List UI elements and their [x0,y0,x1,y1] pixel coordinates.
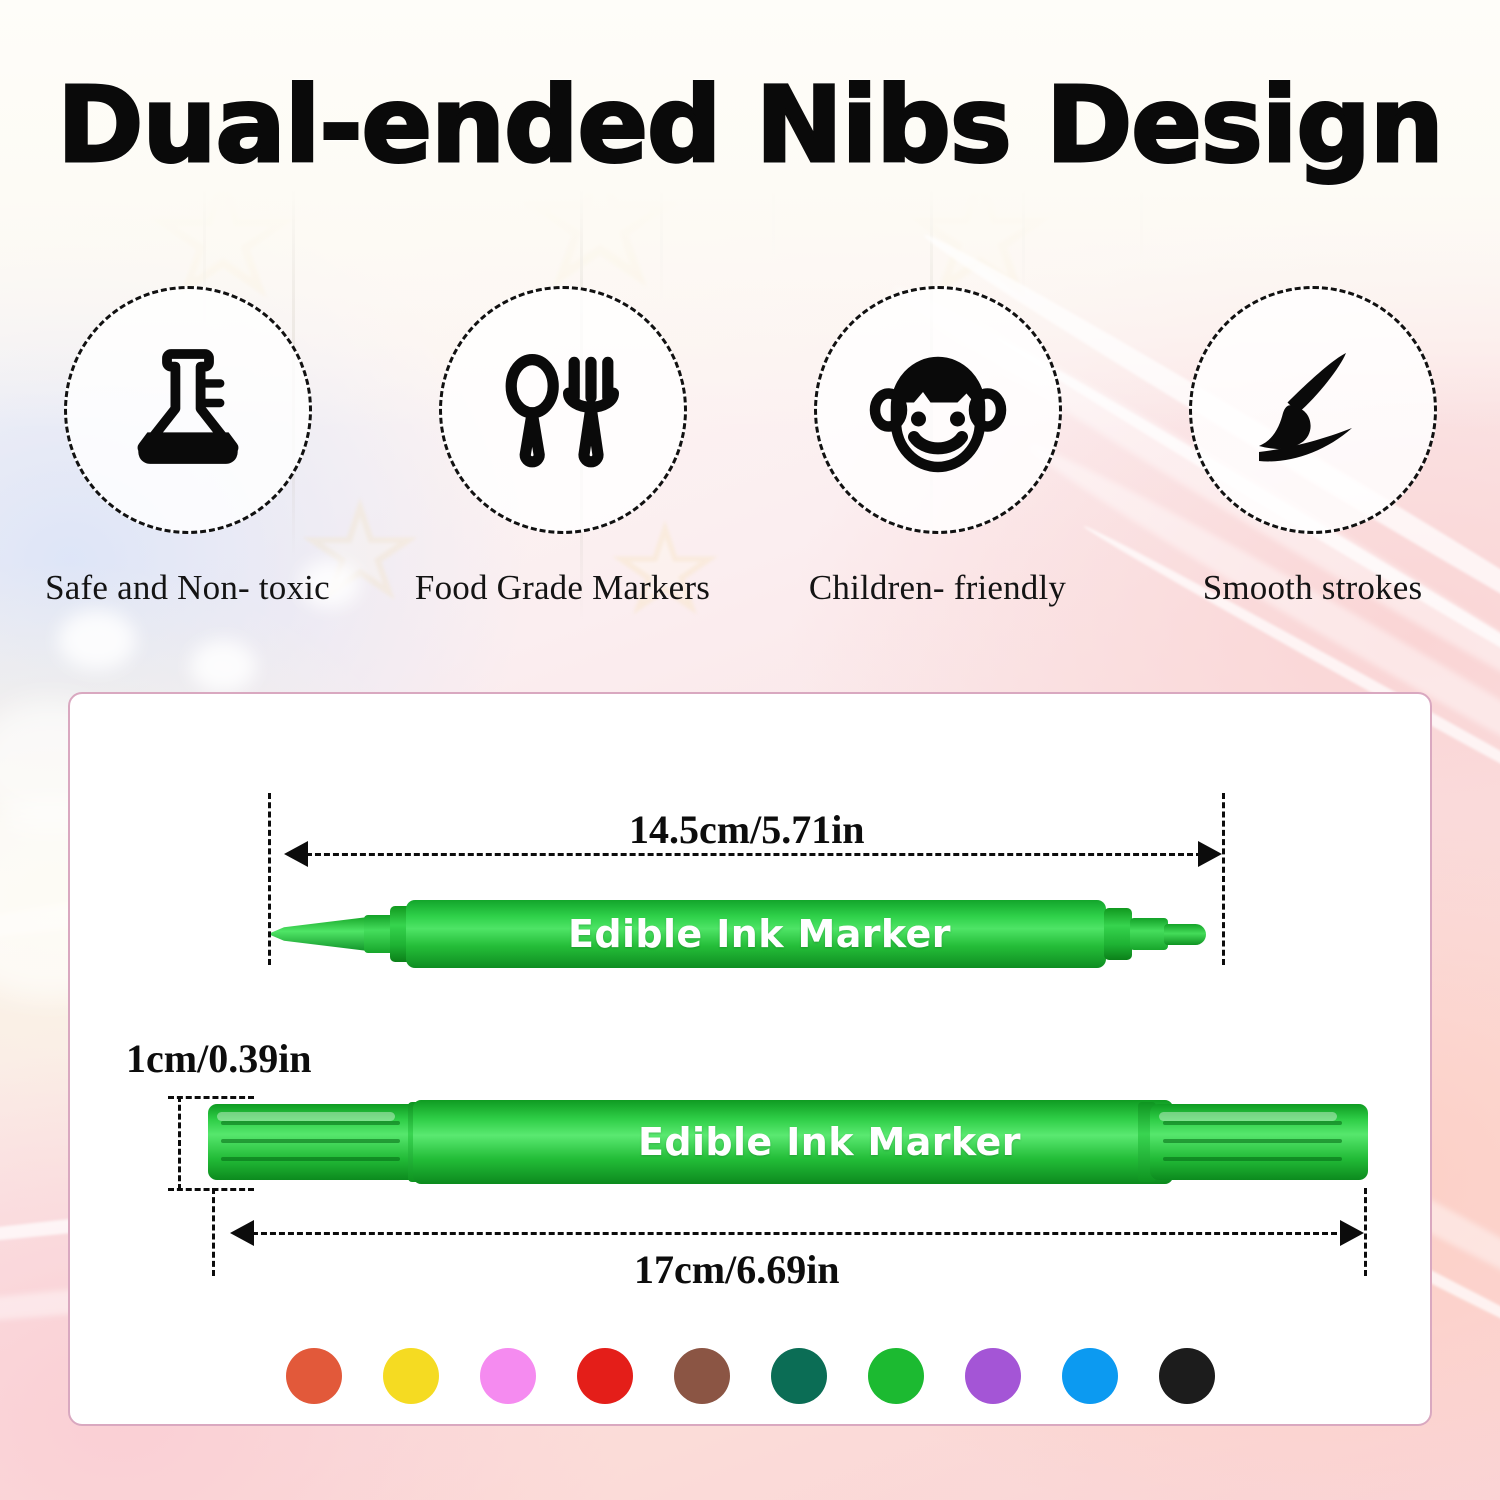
dimension-arrow-head-left [284,841,308,867]
color-swatch-red[interactable] [577,1348,633,1404]
marker-fine-nib [1164,924,1206,945]
color-swatch-green[interactable] [868,1348,924,1404]
flask-icon [118,340,258,480]
dimension-arrow-head-right [1198,841,1222,867]
marker-capped: Edible Ink Marker [208,1096,1368,1188]
cap-rib [1163,1157,1342,1161]
color-swatch-brown[interactable] [674,1348,730,1404]
marker-cap-left [208,1104,426,1180]
page-title-area: Dual-ended Nibs Design [0,72,1500,179]
cap-rib [1163,1139,1342,1143]
feature-item-smooth-strokes: Smooth strokes [1125,286,1500,608]
page-title: Dual-ended Nibs Design [57,72,1443,179]
color-swatch-pink[interactable] [480,1348,536,1404]
feature-item-children-friendly: Children- friendly [750,286,1125,608]
feature-label: Children- friendly [809,568,1066,608]
dimension-guide-line [178,1096,181,1190]
color-swatch-purple[interactable] [965,1348,1021,1404]
marker-cap-right [1150,1104,1368,1180]
cap-rib [221,1157,400,1161]
dimension-label-cap-height: 1cm/0.39in [126,1035,312,1082]
paintbrush-icon [1238,335,1388,485]
feature-icon-circle [439,286,687,534]
feature-icon-circle [64,286,312,534]
marker-fine-nib-base [1130,918,1168,950]
dimension-label-pen-length: 14.5cm/5.71in [629,806,865,853]
spoon-fork-icon [493,340,633,480]
cap-highlight [1159,1112,1338,1121]
child-face-icon [863,335,1013,485]
feature-label: Food Grade Markers [415,568,710,608]
color-swatch-dark-green[interactable] [771,1348,827,1404]
marker-brush-nib [268,917,368,951]
feature-item-safe-non-toxic: Safe and Non- toxic [0,286,375,608]
cap-rib [1163,1121,1342,1125]
marker-brand-text: Edible Ink Marker [638,1120,1021,1164]
marker-brand-text: Edible Ink Marker [568,912,951,956]
dimension-guide-line [1364,1188,1367,1276]
feature-label: Safe and Non- toxic [45,568,330,608]
infographic-canvas: Dual-ended Nibs Design Safe and Non- tox… [0,0,1500,1500]
dimension-guide-line [1222,793,1225,965]
color-swatch-black[interactable] [1159,1348,1215,1404]
color-swatch-yellow[interactable] [383,1348,439,1404]
cap-highlight [217,1112,396,1121]
feature-label: Smooth strokes [1203,568,1423,608]
bokeh-dot [58,610,136,670]
feature-icon-circle [814,286,1062,534]
dimension-label-capped-length: 17cm/6.69in [634,1246,840,1293]
color-swatch-blue[interactable] [1062,1348,1118,1404]
dimension-arrow-line [288,853,1202,856]
dimension-guide-line [212,1188,215,1276]
dimension-arrow-line [234,1232,1346,1235]
marker-ferrule-right [1104,908,1132,960]
color-swatch-row [0,1348,1500,1404]
feature-item-food-grade: Food Grade Markers [375,286,750,608]
cap-rib [221,1139,400,1143]
color-swatch-orange[interactable] [286,1348,342,1404]
feature-row: Safe and Non- toxic Food Gra [0,286,1500,608]
dimension-guide-line [268,793,271,965]
marker-dual-nib-open: Edible Ink Marker [268,898,1228,970]
cap-rib [221,1121,400,1125]
dimension-arrow-head-right [1340,1220,1364,1246]
feature-icon-circle [1189,286,1437,534]
bokeh-dot [190,640,256,692]
dimension-arrow-head-left [230,1220,254,1246]
